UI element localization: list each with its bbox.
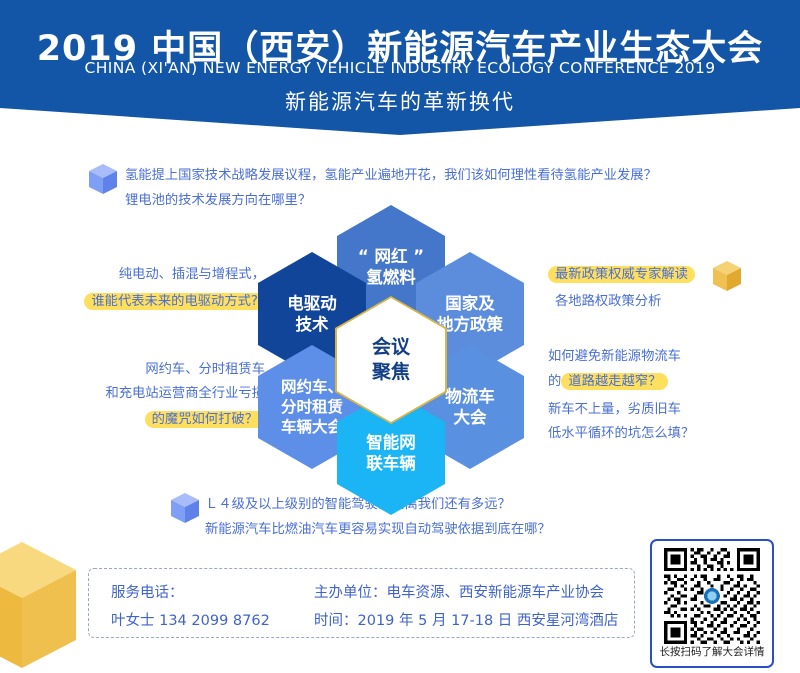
qr-code-image	[660, 548, 764, 644]
hex-logistics-line-1: 物流车	[445, 386, 495, 407]
topic-right2-line-3: 新车不上量，劣质旧车	[548, 398, 694, 422]
hex-connected-line-1: 智能网	[366, 432, 416, 453]
topic-text-right-1: 最新政策权威专家解读 各地路权政策分析	[548, 263, 695, 314]
header-subtitle-english: CHINA (XI'AN) NEW ENERGY VEHICLE INDUSTR…	[0, 59, 800, 77]
topic-top-line-1: 氢能提上国家技术战略发展议程，氢能产业遍地开花，我们该如何理性看待氢能产业发展？	[125, 163, 657, 188]
yellow-cube-decoration-bottom-left	[0, 540, 78, 670]
hex-center-line-1: 会议	[372, 335, 410, 360]
yellow-cube-icon-right	[712, 260, 742, 292]
topic-left2-highlight: 的魔咒如何打破？	[145, 411, 265, 428]
qr-code-caption: 长按扫码了解大会详情	[652, 644, 772, 659]
hex-center-line-2: 聚焦	[372, 360, 410, 385]
hex-ridehailing-line-3: 车辆大会	[281, 417, 343, 437]
footer-organizer-column: 主办单位：电车资源、西安新能源车产业协会 时间：2019 年 5 月 17-18…	[314, 579, 618, 635]
poster-canvas: 2019 中国（西安）新能源汽车产业生态大会 CHINA (XI'AN) NEW…	[0, 0, 800, 673]
topic-right2-line-1: 如何避免新能源物流车	[548, 345, 694, 369]
hex-connected-line-2: 联车辆	[366, 453, 416, 474]
hex-hydrogen-line-2: 氢燃料	[358, 267, 424, 288]
hex-ridehailing-line-1: 网约车、	[281, 377, 343, 397]
footer-service-column: 服务电话： 叶女士 134 2099 8762	[111, 579, 270, 635]
topic-text-right-2: 如何避免新能源物流车 的道路越走越窄？ 新车不上量，劣质旧车 低水平循环的坑怎么…	[548, 345, 694, 446]
topic-right2-highlight: 道路越走越窄？	[561, 373, 668, 390]
poster-header: 2019 中国（西安）新能源汽车产业生态大会 CHINA (XI'AN) NEW…	[0, 0, 800, 135]
hexagon-cluster: “ 网红 ” 氢燃料 电驱动 技术 国家及 地方政策 网约车、 分时租赁 车辆大…	[255, 205, 555, 490]
qr-code-box[interactable]: 长按扫码了解大会详情	[650, 539, 774, 668]
topic-text-left-2: 网约车、分时租赁车 和充电站运营商全行业亏损 的魔咒如何打破？	[20, 358, 265, 432]
hex-hydrogen-line-1: “ 网红 ”	[358, 246, 424, 267]
topic-text-left-1: 纯电动、插混与增程式， 谁能代表未来的电驱动方式?	[30, 263, 265, 314]
hex-ev-drive-line-1: 电驱动	[287, 293, 337, 314]
topic-bottom-line-2: 新能源汽车比燃油汽车更容易实现自动驾驶依据到底在哪？	[205, 517, 551, 542]
topic-right1-line-2: 各地路权政策分析	[548, 290, 695, 314]
topic-left2-line-2: 和充电站运营商全行业亏损	[20, 382, 265, 406]
topic-right1-highlight: 最新政策权威专家解读	[548, 266, 695, 283]
topic-right2-line-4: 低水平循环的坑怎么填？	[548, 422, 694, 446]
footer-organizer: 主办单位：电车资源、西安新能源车产业协会	[314, 579, 618, 607]
hex-ridehailing-line-2: 分时租赁	[281, 397, 343, 417]
topic-left2-line-1: 网约车、分时租赁车	[20, 358, 265, 382]
blue-cube-icon-bottom	[170, 492, 200, 524]
footer-info-box: 服务电话： 叶女士 134 2099 8762 主办单位：电车资源、西安新能源车…	[88, 568, 635, 638]
footer-time: 时间：2019 年 5 月 17-18 日 西安星河湾酒店	[314, 607, 618, 635]
hex-policy-line-1: 国家及	[437, 293, 503, 314]
footer-service-label: 服务电话：	[111, 579, 270, 607]
hex-logistics-line-2: 大会	[445, 407, 495, 428]
hex-ev-drive-line-2: 技术	[287, 314, 337, 335]
header-slogan: 新能源汽车的革新换代	[0, 86, 800, 116]
footer-service-value: 叶女士 134 2099 8762	[111, 607, 270, 635]
topic-left1-highlight: 谁能代表未来的电驱动方式?	[84, 293, 265, 310]
blue-cube-icon-top	[88, 163, 118, 195]
topic-left1-line-1: 纯电动、插混与增程式，	[30, 263, 265, 287]
